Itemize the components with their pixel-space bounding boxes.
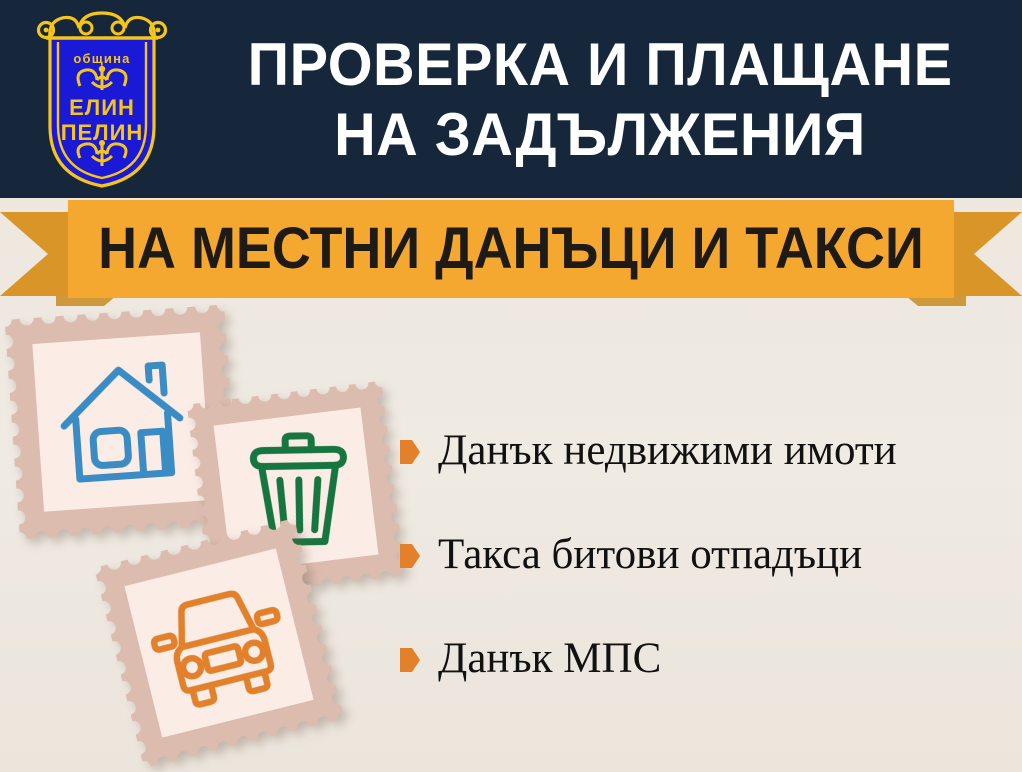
title-line-2: НА ЗАДЪЛЖЕНИЯ [334, 100, 866, 170]
list-item-label: Данък МПС [438, 636, 661, 682]
list-item-label: Такса битови отпадъци [438, 532, 862, 578]
poster-title: ПРОВЕРКА И ПЛАЩАНЕ НА ЗАДЪЛЖЕНИЯ [190, 14, 1010, 186]
list-item-label: Данък недвижими имоти [438, 428, 897, 474]
arrow-bullet-icon [400, 544, 420, 568]
tax-type-list: Данък недвижими имоти Такса битови отпад… [400, 425, 1015, 685]
arrow-bullet-icon [400, 648, 420, 672]
list-item[interactable]: Такса битови отпадъци [400, 529, 1015, 581]
subtitle-ribbon: НА МЕСТНИ ДАНЪЦИ И ТАКСИ [0, 198, 1022, 310]
ribbon-label: НА МЕСТНИ ДАНЪЦИ И ТАКСИ [98, 219, 924, 279]
list-item[interactable]: Данък МПС [400, 633, 1015, 685]
poster-canvas: община ЕЛИН ПЕЛИН [0, 0, 1022, 772]
header-bar: община ЕЛИН ПЕЛИН [0, 0, 1022, 198]
ribbon-panel: НА МЕСТНИ ДАНЪЦИ И ТАКСИ [68, 200, 954, 298]
arrow-bullet-icon [400, 440, 420, 464]
municipality-logo: община ЕЛИН ПЕЛИН [22, 8, 182, 190]
logo-name-line1: ЕЛИН [69, 95, 135, 120]
list-item[interactable]: Данък недвижими имоти [400, 425, 1015, 477]
title-line-1: ПРОВЕРКА И ПЛАЩАНЕ [248, 30, 953, 100]
logo-municipality-label: община [73, 51, 130, 66]
